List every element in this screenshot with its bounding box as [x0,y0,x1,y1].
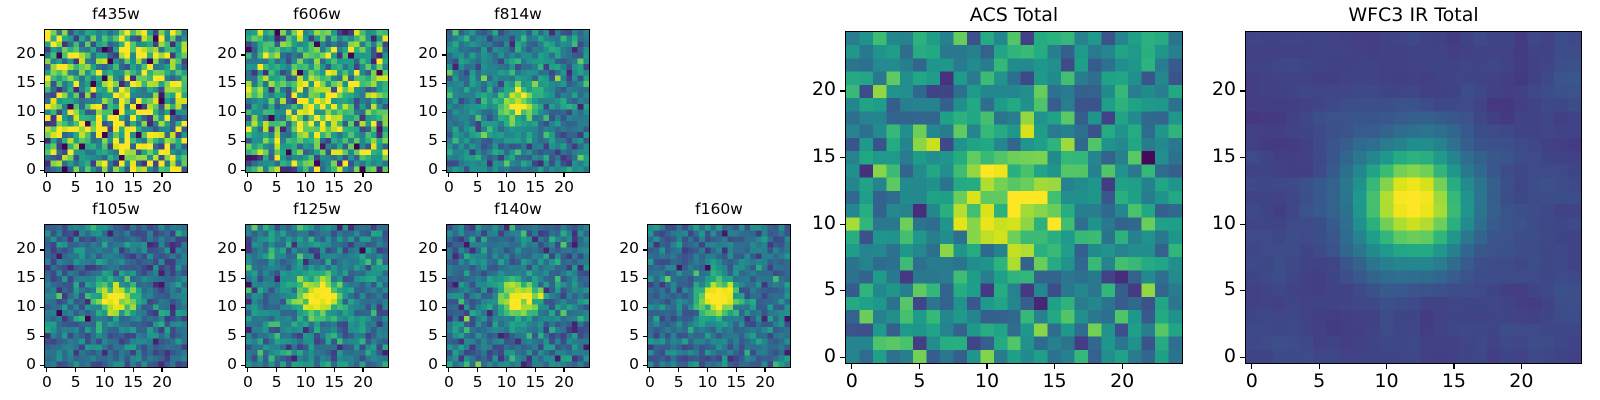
xtick-f140w-2 [506,368,507,372]
heatmap-image-f105w [45,225,187,367]
panel-f606w: f606w0510152005101520 [215,5,391,201]
heatmap-image-wfc3_ir_total [1246,32,1581,363]
panel-title-f125w: f125w [245,202,389,218]
xtick-f160w-3 [736,368,737,372]
panel-f105w: f105w0510152005101520 [14,200,190,396]
ytick-f140w-2 [442,307,446,308]
xtick-f606w-4 [362,173,363,177]
ytick-f814w-4 [442,54,446,55]
xtick-f435w-4 [161,173,162,177]
yticklabel-f105w-3: 15 [14,270,36,286]
xtick-f606w-3 [334,173,335,177]
yticklabel-f606w-2: 10 [215,104,237,120]
xtick-f606w-1 [276,173,277,177]
ytick-f125w-4 [241,249,245,250]
xtick-f160w-4 [764,368,765,372]
panel-f125w: f125w0510152005101520 [215,200,391,396]
xtick-f140w-3 [535,368,536,372]
xtick-f105w-3 [133,368,134,372]
figure-canvas: f435w0510152005101520f606w05101520051015… [0,0,1600,400]
xtick-f140w-0 [448,368,449,372]
xtick-f435w-1 [75,173,76,177]
yticklabel-wfc3_ir_total-1: 5 [1205,280,1236,299]
xtick-f435w-0 [46,173,47,177]
xtick-wfc3_ir_total-3 [1453,364,1454,369]
ytick-f160w-1 [643,336,647,337]
heatmap-axes-wfc3_ir_total [1245,31,1582,364]
ytick-f435w-3 [40,83,44,84]
xtick-acs_total-2 [986,364,987,369]
ytick-f105w-0 [40,365,44,366]
heatmap-axes-f125w [245,224,389,368]
ytick-f140w-3 [442,278,446,279]
xticklabel-f814w-4: 20 [534,180,594,196]
yticklabel-f140w-1: 5 [416,328,438,344]
ytick-f814w-3 [442,83,446,84]
xtick-f125w-3 [334,368,335,372]
ytick-f125w-1 [241,336,245,337]
panel-f140w: f140w0510152005101520 [416,200,592,396]
heatmap-image-f140w [447,225,589,367]
yticklabel-f814w-3: 15 [416,75,438,91]
panel-title-wfc3_ir_total: WFC3 IR Total [1245,6,1582,25]
ytick-f435w-1 [40,141,44,142]
yticklabel-f140w-2: 10 [416,299,438,315]
ytick-wfc3_ir_total-4 [1240,90,1245,91]
ytick-f606w-1 [241,141,245,142]
yticklabel-f105w-2: 10 [14,299,36,315]
heatmap-image-f606w [246,30,388,172]
ytick-f160w-4 [643,249,647,250]
xtick-f814w-3 [535,173,536,177]
yticklabel-f160w-4: 20 [617,241,639,257]
xticklabel-wfc3_ir_total-3: 15 [1424,372,1484,391]
xtick-f125w-2 [305,368,306,372]
xtick-f105w-4 [161,368,162,372]
yticklabel-wfc3_ir_total-2: 10 [1205,214,1236,233]
xtick-f125w-1 [276,368,277,372]
ytick-f160w-3 [643,278,647,279]
xtick-f435w-3 [133,173,134,177]
xtick-f105w-1 [75,368,76,372]
heatmap-image-f125w [246,225,388,367]
yticklabel-f814w-1: 5 [416,133,438,149]
xtick-wfc3_ir_total-0 [1251,364,1252,369]
xticklabel-acs_total-0: 0 [822,372,882,391]
yticklabel-f606w-4: 20 [215,46,237,62]
yticklabel-f105w-4: 20 [14,241,36,257]
ytick-acs_total-1 [840,290,845,291]
ytick-f814w-2 [442,112,446,113]
xtick-f125w-0 [247,368,248,372]
ytick-f606w-0 [241,170,245,171]
xticklabel-acs_total-4: 20 [1092,372,1152,391]
xtick-f105w-0 [46,368,47,372]
ytick-wfc3_ir_total-3 [1240,157,1245,158]
ytick-wfc3_ir_total-1 [1240,290,1245,291]
yticklabel-f435w-1: 5 [14,133,36,149]
yticklabel-acs_total-1: 5 [805,280,836,299]
xticklabel-wfc3_ir_total-1: 5 [1289,372,1349,391]
xticklabel-f606w-4: 20 [333,180,393,196]
xticklabel-wfc3_ir_total-0: 0 [1222,372,1282,391]
xtick-f140w-1 [477,368,478,372]
heatmap-image-f435w [45,30,187,172]
xtick-f140w-4 [563,368,564,372]
ytick-f140w-0 [442,365,446,366]
xtick-f814w-2 [506,173,507,177]
panel-f160w: f160w0510152005101520 [617,200,793,396]
yticklabel-f160w-3: 15 [617,270,639,286]
ytick-f160w-0 [643,365,647,366]
ytick-f160w-2 [643,307,647,308]
heatmap-image-acs_total [846,32,1182,363]
xtick-f606w-0 [247,173,248,177]
xtick-f814w-0 [448,173,449,177]
ytick-f125w-3 [241,278,245,279]
ytick-f140w-1 [442,336,446,337]
xticklabel-f160w-4: 20 [735,375,795,391]
panel-title-f160w: f160w [647,202,791,218]
xtick-wfc3_ir_total-4 [1521,364,1522,369]
xtick-f606w-2 [305,173,306,177]
ytick-f105w-4 [40,249,44,250]
ytick-f606w-3 [241,83,245,84]
xtick-f160w-0 [649,368,650,372]
yticklabel-f140w-0: 0 [416,357,438,373]
xtick-f160w-1 [678,368,679,372]
panel-f814w: f814w0510152005101520 [416,5,592,201]
yticklabel-wfc3_ir_total-4: 20 [1205,80,1236,99]
heatmap-axes-f814w [446,29,590,173]
heatmap-axes-f160w [647,224,791,368]
xtick-acs_total-0 [851,364,852,369]
heatmap-axes-f105w [44,224,188,368]
panel-wfc3_ir_total: WFC3 IR Total0510152005101520 [1205,4,1584,395]
yticklabel-wfc3_ir_total-0: 0 [1205,347,1236,366]
panel-title-acs_total: ACS Total [845,6,1183,25]
yticklabel-f606w-3: 15 [215,75,237,91]
yticklabel-acs_total-3: 15 [805,147,836,166]
xtick-f814w-4 [563,173,564,177]
ytick-wfc3_ir_total-0 [1240,357,1245,358]
ytick-f125w-0 [241,365,245,366]
ytick-f814w-0 [442,170,446,171]
heatmap-axes-f140w [446,224,590,368]
ytick-f105w-2 [40,307,44,308]
heatmap-axes-f606w [245,29,389,173]
xtick-acs_total-4 [1122,364,1123,369]
ytick-wfc3_ir_total-2 [1240,224,1245,225]
yticklabel-f435w-0: 0 [14,162,36,178]
yticklabel-f105w-0: 0 [14,357,36,373]
xtick-f814w-1 [477,173,478,177]
yticklabel-f125w-2: 10 [215,299,237,315]
xtick-f435w-2 [104,173,105,177]
xticklabel-f140w-4: 20 [534,375,594,391]
yticklabel-f125w-1: 5 [215,328,237,344]
heatmap-image-f814w [447,30,589,172]
xtick-f105w-2 [104,368,105,372]
yticklabel-acs_total-4: 20 [805,80,836,99]
xticklabel-wfc3_ir_total-2: 10 [1357,372,1417,391]
xticklabel-wfc3_ir_total-4: 20 [1491,372,1551,391]
yticklabel-f125w-0: 0 [215,357,237,373]
xticklabel-f105w-4: 20 [132,375,192,391]
ytick-acs_total-3 [840,157,845,158]
ytick-acs_total-2 [840,224,845,225]
yticklabel-f160w-0: 0 [617,357,639,373]
xtick-wfc3_ir_total-2 [1386,364,1387,369]
xticklabel-f435w-4: 20 [132,180,192,196]
xtick-wfc3_ir_total-1 [1319,364,1320,369]
heatmap-image-f160w [648,225,790,367]
yticklabel-acs_total-0: 0 [805,347,836,366]
xtick-acs_total-3 [1054,364,1055,369]
ytick-acs_total-4 [840,90,845,91]
ytick-f105w-1 [40,336,44,337]
yticklabel-f435w-3: 15 [14,75,36,91]
ytick-f606w-2 [241,112,245,113]
yticklabel-wfc3_ir_total-3: 15 [1205,147,1236,166]
yticklabel-f125w-3: 15 [215,270,237,286]
yticklabel-f814w-4: 20 [416,46,438,62]
yticklabel-acs_total-2: 10 [805,214,836,233]
yticklabel-f814w-2: 10 [416,104,438,120]
yticklabel-f606w-0: 0 [215,162,237,178]
panel-acs_total: ACS Total0510152005101520 [805,4,1185,395]
ytick-f814w-1 [442,141,446,142]
panel-title-f814w: f814w [446,7,590,23]
panel-title-f105w: f105w [44,202,188,218]
ytick-f435w-4 [40,54,44,55]
xticklabel-acs_total-3: 15 [1025,372,1085,391]
yticklabel-f606w-1: 5 [215,133,237,149]
heatmap-axes-acs_total [845,31,1183,364]
yticklabel-f435w-4: 20 [14,46,36,62]
ytick-f435w-0 [40,170,44,171]
xticklabel-f125w-4: 20 [333,375,393,391]
ytick-f606w-4 [241,54,245,55]
ytick-f105w-3 [40,278,44,279]
yticklabel-f105w-1: 5 [14,328,36,344]
xticklabel-acs_total-2: 10 [957,372,1017,391]
ytick-f435w-2 [40,112,44,113]
xtick-f160w-2 [707,368,708,372]
heatmap-axes-f435w [44,29,188,173]
ytick-f140w-4 [442,249,446,250]
yticklabel-f160w-2: 10 [617,299,639,315]
xticklabel-acs_total-1: 5 [889,372,949,391]
yticklabel-f125w-4: 20 [215,241,237,257]
panel-title-f435w: f435w [44,7,188,23]
xtick-acs_total-1 [919,364,920,369]
yticklabel-f140w-3: 15 [416,270,438,286]
yticklabel-f140w-4: 20 [416,241,438,257]
yticklabel-f160w-1: 5 [617,328,639,344]
yticklabel-f435w-2: 10 [14,104,36,120]
panel-title-f606w: f606w [245,7,389,23]
yticklabel-f814w-0: 0 [416,162,438,178]
panel-f435w: f435w0510152005101520 [14,5,190,201]
ytick-f125w-2 [241,307,245,308]
ytick-acs_total-0 [840,357,845,358]
panel-title-f140w: f140w [446,202,590,218]
xtick-f125w-4 [362,368,363,372]
